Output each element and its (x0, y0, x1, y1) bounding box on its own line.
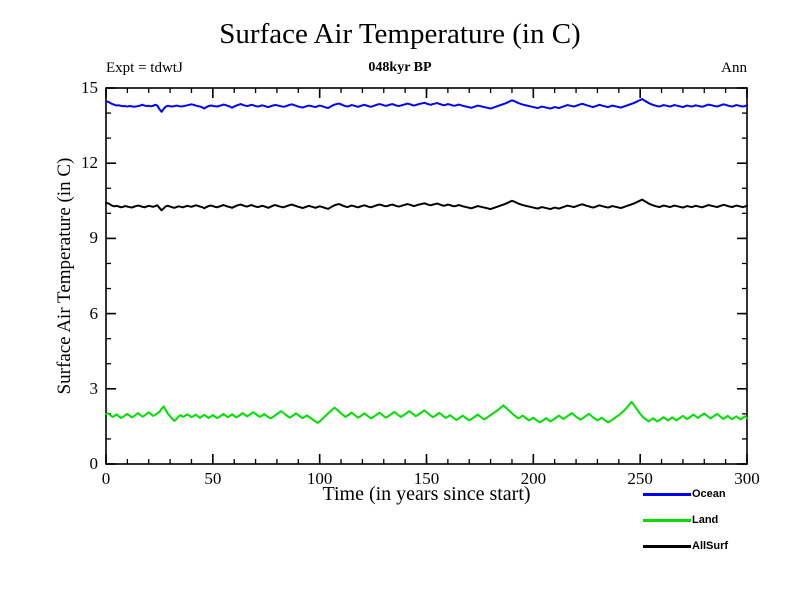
legend-swatch-ocean (643, 493, 691, 496)
plot-frame (106, 88, 747, 464)
legend-label: Land (692, 511, 718, 529)
legend-swatch-land (643, 519, 691, 522)
legend-item-land[interactable]: Land (640, 509, 800, 533)
legend-item-ocean[interactable]: Ocean (640, 483, 800, 507)
legend-label: Ocean (692, 485, 726, 503)
x-tick-label: 150 (397, 470, 457, 487)
legend-swatch-allsurf (643, 545, 691, 548)
y-tick-label: 6 (58, 305, 98, 322)
series-line-allsurf (106, 200, 747, 211)
x-tick-label: 100 (290, 470, 350, 487)
chart-legend: OceanLandAllSurf (640, 483, 800, 561)
y-tick-label: 15 (58, 79, 98, 96)
axis-minor-ticks (106, 88, 747, 464)
x-tick-label: 200 (503, 470, 563, 487)
series-line-ocean (106, 99, 747, 112)
y-tick-label: 9 (58, 229, 98, 246)
x-tick-label: 50 (183, 470, 243, 487)
y-tick-label: 12 (58, 154, 98, 171)
x-tick-label: 0 (76, 470, 136, 487)
legend-item-allsurf[interactable]: AllSurf (640, 535, 800, 559)
series-line-land (106, 402, 747, 423)
legend-label: AllSurf (692, 537, 728, 555)
axis-major-ticks (106, 88, 747, 464)
data-series-group (106, 99, 747, 423)
y-tick-label: 3 (58, 380, 98, 397)
